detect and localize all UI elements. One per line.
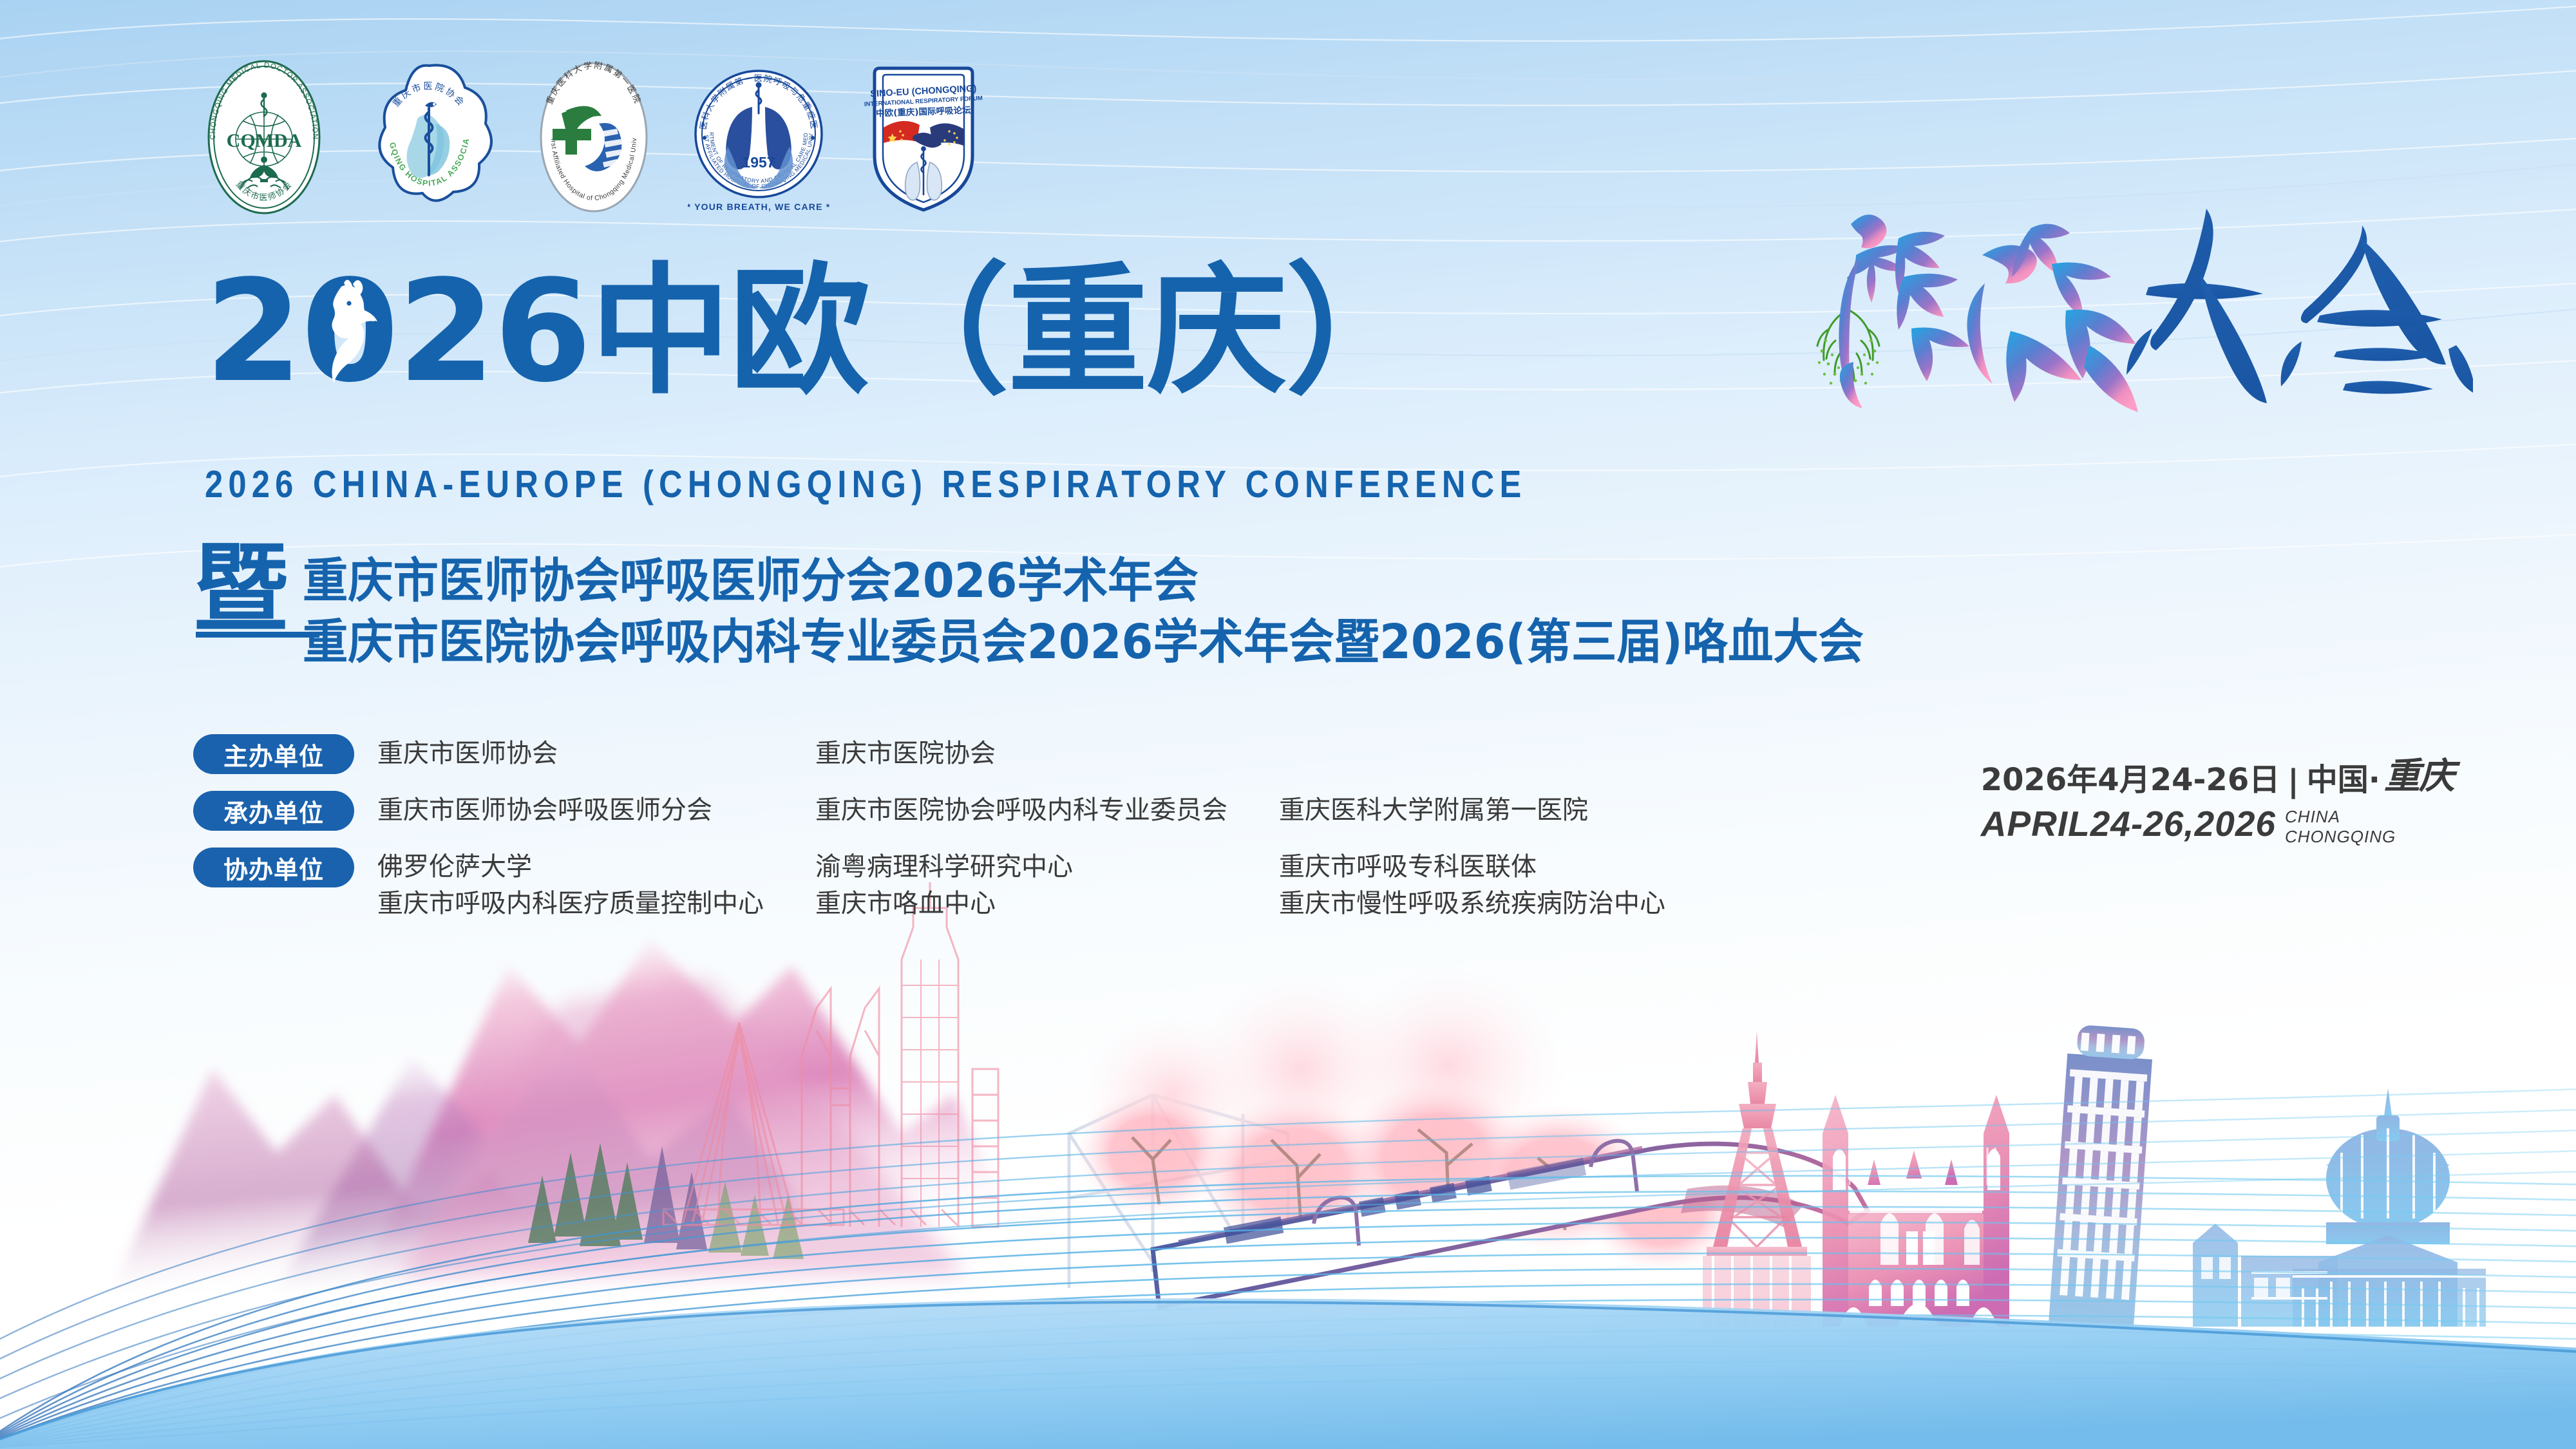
subtitle-prefix-char: 暨: [193, 544, 303, 634]
badge-coorganizer: 协办单位: [193, 848, 354, 887]
coorganizer-col-2: 渝粤病理科学研究中心 重庆市咯血中心: [815, 849, 1279, 922]
organizer-item: 重庆市呼吸专科医联体: [1279, 849, 1717, 885]
organizer-col-2: 重庆市医院协会呼吸内科专业委员会: [815, 792, 1279, 829]
location-zh: 中国·: [2307, 754, 2380, 799]
eiffel-tower: [1703, 1030, 1811, 1327]
organizer-row-organizer: 承办单位 重庆市医师协会呼吸医师分会 重庆市医院协会呼吸内科专业委员会 重庆医科…: [193, 791, 1717, 831]
logo-dept-respiratory-critical-care: 重庆医科大学附属第一医院呼吸与危重症医学科 DEPARTMENT OF RESP…: [688, 57, 829, 218]
date-separator: |: [2287, 763, 2299, 799]
subtitle-block: 暨 重庆市医师协会呼吸医师分会2026学术年会 重庆市医院协会呼吸内科专业委员会…: [193, 544, 1946, 672]
organizer-block: 主办单位 重庆市医师协会 重庆市医院协会 承办单位 重庆市医师协会呼吸医师分会 …: [193, 734, 1717, 939]
conference-poster: CHONGQING MEDICAL DOCTOR ASSOCIATION 重庆市…: [0, 0, 2576, 1449]
subtitle-line-1: 重庆市医师协会呼吸医师分会2026学术年会: [303, 551, 1864, 612]
svg-text:CQMDA: CQMDA: [227, 130, 302, 151]
organizer-row-host: 主办单位 重庆市医师协会 重庆市医院协会: [193, 734, 1717, 774]
svg-text:1957: 1957: [742, 154, 775, 171]
logo-sino-eu-chongqing-respiratory-forum: SINO-EU (CHONGQING) INTERNATIONAL RESPIR…: [853, 57, 994, 218]
date-zh: 2026年4月24-26日: [1981, 754, 2280, 799]
yangtze-bridge: [663, 1023, 957, 1227]
truss-bridge: [1069, 1095, 1288, 1288]
city-en: CHONGQING: [2285, 827, 2396, 846]
badge-host: 主办单位: [193, 734, 354, 774]
host-col-2: 重庆市医院协会: [815, 735, 1279, 772]
title-year: 2026: [205, 251, 591, 413]
calligraphy-title: [1823, 193, 2473, 419]
main-title: 2026 中欧（重庆）: [205, 241, 1425, 402]
organizer-item: 重庆市医师协会: [377, 735, 815, 772]
organizer-item: 重庆医科大学附属第一医院: [1279, 792, 1717, 829]
organizer-row-coorganizer: 协办单位 佛罗伦萨大学 重庆市呼吸内科医疗质量控制中心 渝粤病理科学研究中心 重…: [193, 848, 1717, 922]
coorganizer-col-1: 佛罗伦萨大学 重庆市呼吸内科医疗质量控制中心: [377, 849, 815, 922]
coorganizer-col-3: 重庆市呼吸专科医联体 重庆市慢性呼吸系统疾病防治中心: [1279, 849, 1717, 922]
logo-chongqing-hospital-association: 重庆市医院协会 CHONGQING HOSPITAL ASSOCIATION: [358, 57, 500, 218]
pine-trees: [528, 1143, 804, 1259]
title-english: 2026 CHINA-EUROPE (CHONGQING) RESPIRATOR…: [205, 462, 1527, 506]
location-en: CHINA CHONGQING: [2285, 807, 2396, 846]
date-en: APRIL24-26,2026: [1981, 803, 2276, 844]
date-location-block: 2026年4月24-26日 | 中国· 重庆 APRIL24-26,2026 C…: [1981, 747, 2454, 846]
date-line-english: APRIL24-26,2026 CHINA CHONGQING: [1981, 803, 2454, 846]
organizer-item: 佛罗伦萨大学: [377, 849, 815, 885]
organizer-logo-row: CHONGQING MEDICAL DOCTOR ASSOCIATION 重庆市…: [193, 57, 994, 218]
gothic-cathedral: [1823, 1095, 2009, 1327]
organizer-item: 重庆市医师协会呼吸医师分会: [377, 792, 815, 829]
subtitle-lines: 重庆市医师协会呼吸医师分会2026学术年会 重庆市医院协会呼吸内科专业委员会20…: [303, 544, 1946, 672]
location-city-zh: 重庆: [2384, 747, 2454, 799]
main-title-text: 2026 中欧（重庆）: [205, 262, 1425, 402]
st-peters-basilica: [2193, 1088, 2486, 1327]
title-zh-text: 中欧（重庆）: [591, 251, 1425, 413]
subtitle-line-2: 重庆市医院协会呼吸内科专业委员会2026学术年会暨2026(第三届)咯血大会: [303, 612, 1864, 673]
logo-first-affiliated-hospital-cqmu: 重庆医科大学附属第一医院 The First Affiliated Hospit…: [523, 57, 665, 218]
cherry-blossom-trees: [1075, 966, 1739, 1272]
subtitle-prefix-underline: [196, 632, 319, 638]
organizer-item: 重庆市呼吸内科医疗质量控制中心: [377, 885, 815, 922]
host-col-1: 重庆市医师协会: [377, 735, 815, 772]
horse-icon: [301, 274, 385, 396]
host-col-3: [1279, 735, 1717, 772]
organizer-item: 重庆市咯血中心: [815, 885, 1279, 922]
organizer-item: 重庆市慢性呼吸系统疾病防治中心: [1279, 885, 1717, 922]
country-en: CHINA: [2285, 807, 2340, 826]
organizer-col-3: 重庆医科大学附属第一医院: [1279, 792, 1717, 829]
date-line-chinese: 2026年4月24-26日 | 中国· 重庆: [1981, 747, 2454, 799]
logo-chongqing-medical-doctor-association: CHONGQING MEDICAL DOCTOR ASSOCIATION 重庆市…: [193, 57, 335, 218]
svg-text:* YOUR BREATH, WE CARE *: * YOUR BREATH, WE CARE *: [688, 202, 829, 212]
organizer-item: 渝粤病理科学研究中心: [815, 849, 1279, 885]
organizer-item: 重庆市医院协会呼吸内科专业委员会: [815, 792, 1279, 829]
organizer-col-1: 重庆市医师协会呼吸医师分会: [377, 792, 815, 829]
high-speed-train: [1153, 1141, 1868, 1307]
organizer-item: 重庆市医院协会: [815, 735, 1279, 772]
badge-organizer: 承办单位: [193, 791, 354, 831]
leaning-tower-of-pisa: [2049, 1024, 2154, 1329]
